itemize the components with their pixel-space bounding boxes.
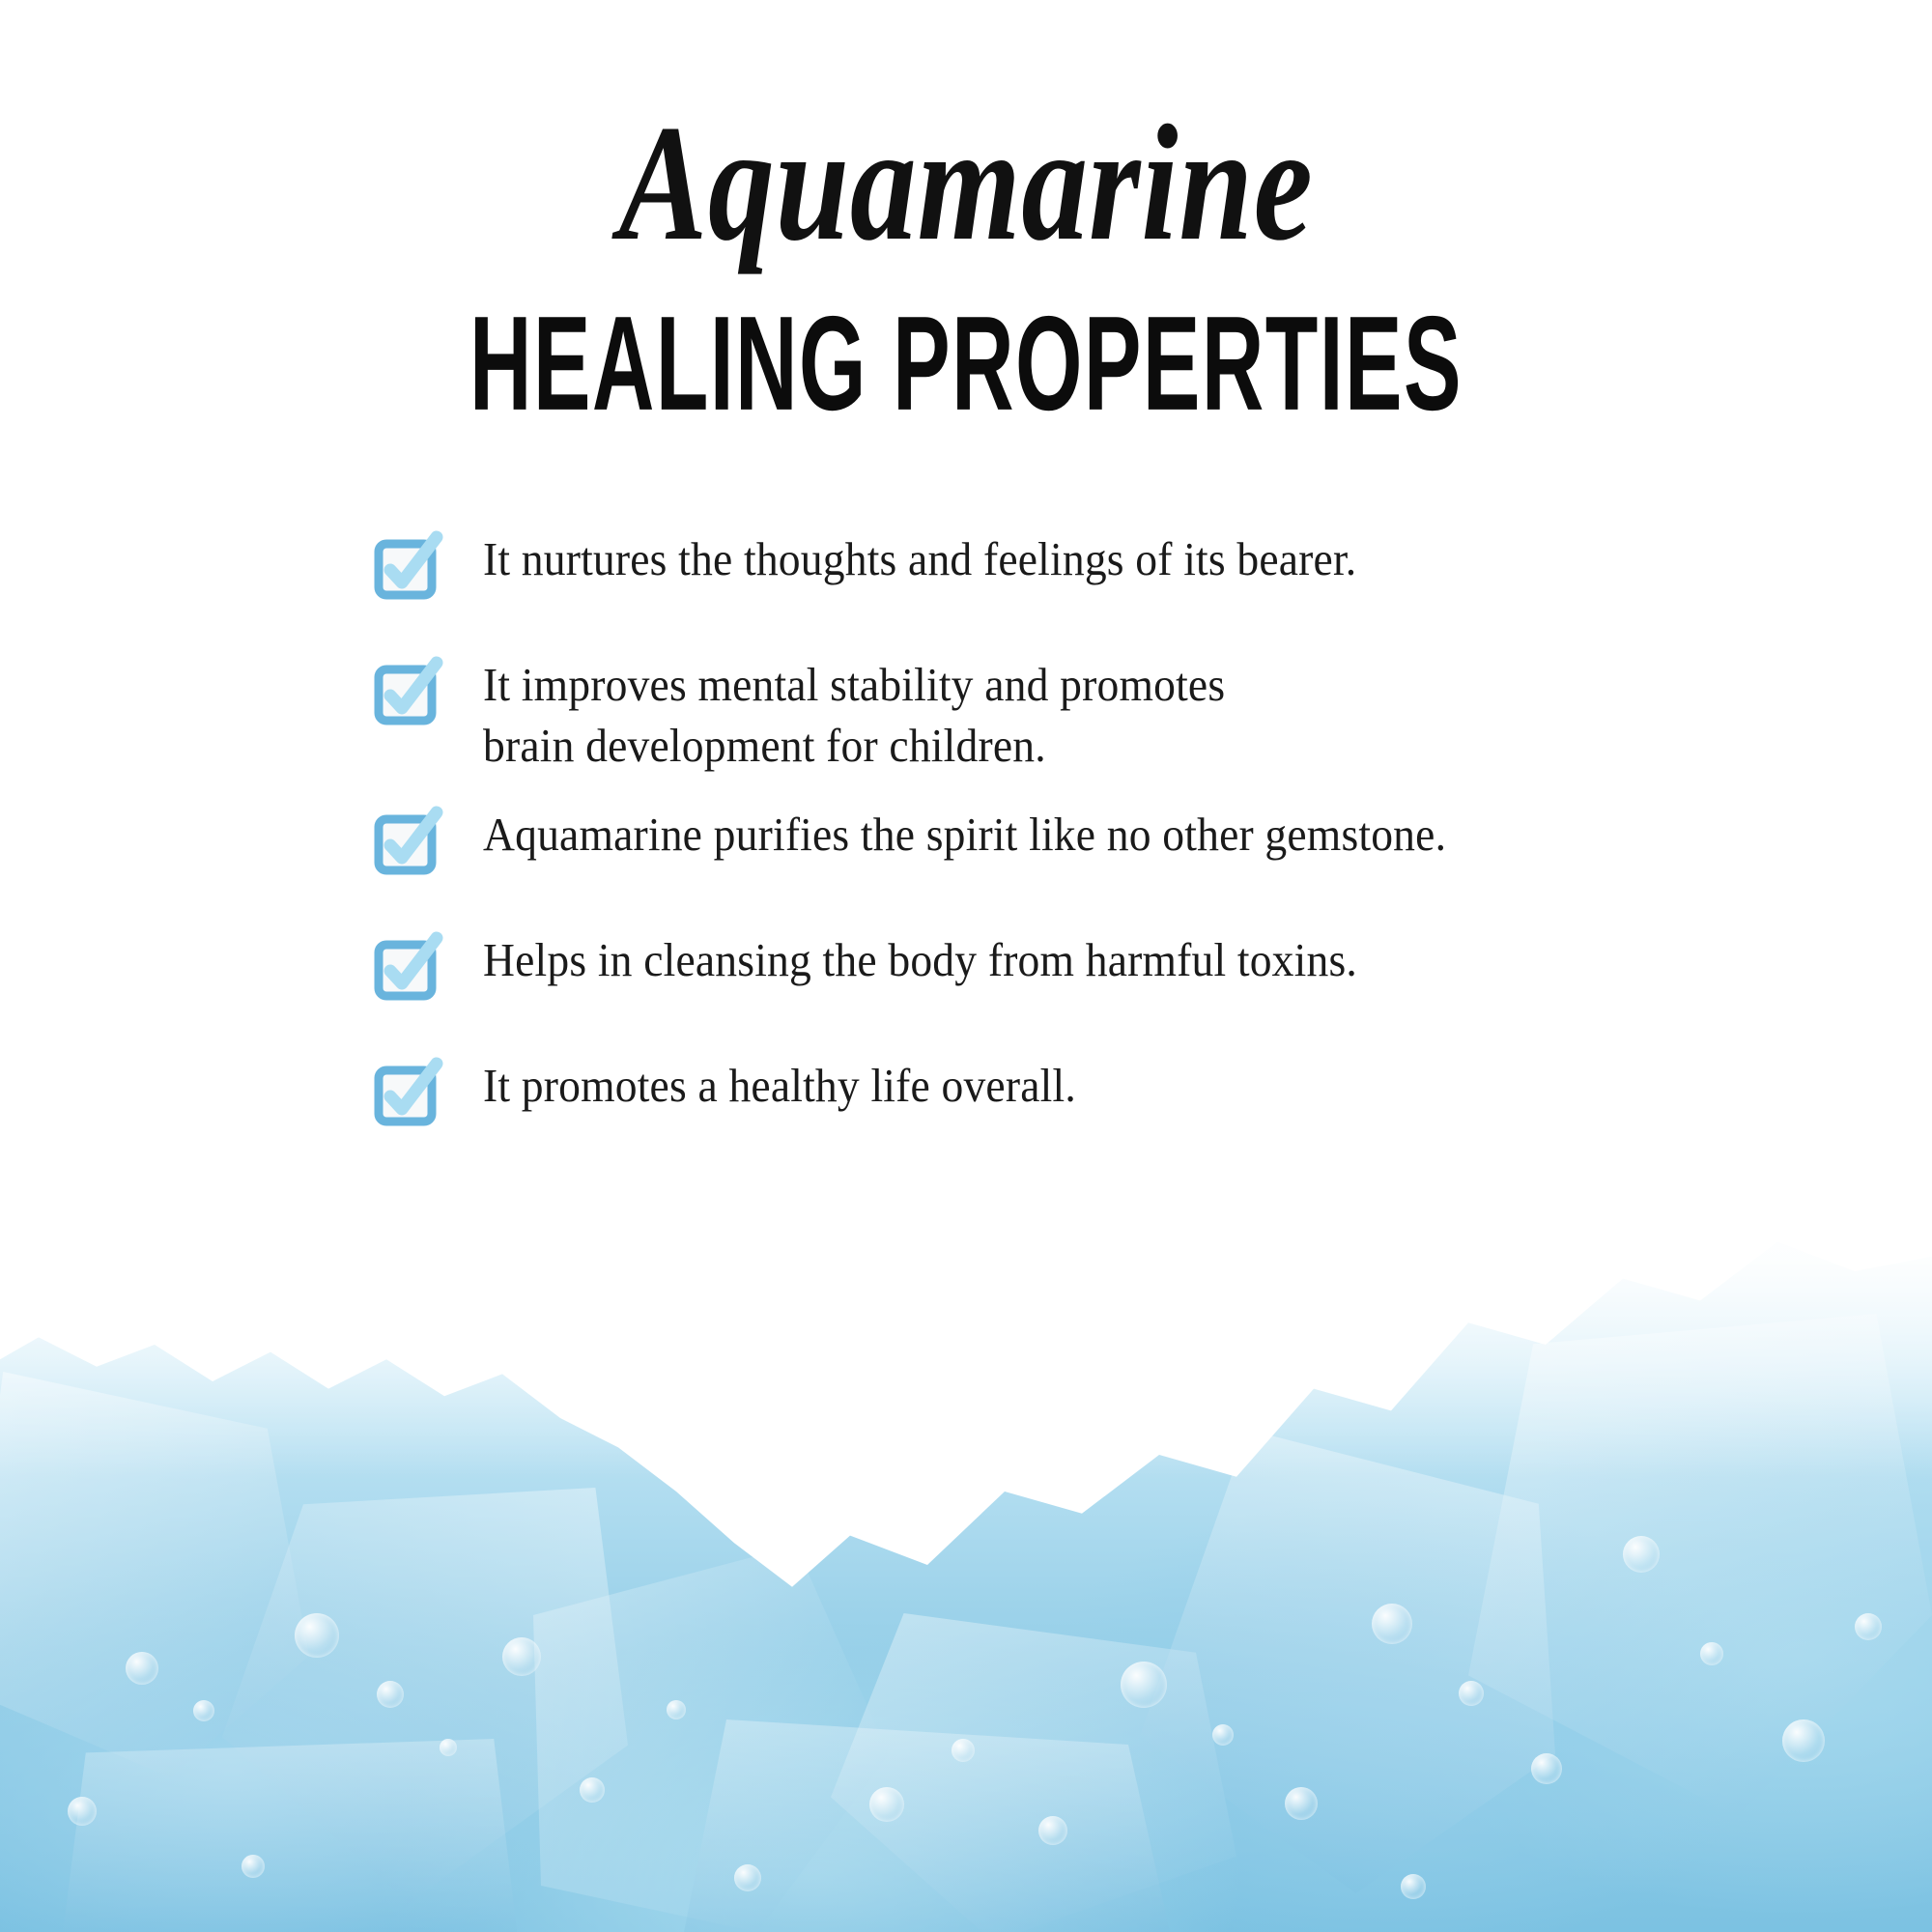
list-item-label: Helps in cleansing the body from harmful…	[483, 930, 1357, 991]
healing-properties-list: It nurtures the thoughts and feelings of…	[375, 529, 1882, 1127]
ice-bubble	[1531, 1753, 1562, 1784]
ice-bubble	[295, 1613, 339, 1658]
ice-bubble	[126, 1652, 158, 1685]
ice-bubble	[193, 1700, 214, 1721]
checkbox-checked-icon	[375, 661, 440, 726]
ice-bubble	[1212, 1724, 1234, 1746]
ice-bubble	[440, 1739, 457, 1756]
list-item: Aquamarine purifies the spirit like no o…	[375, 805, 1882, 876]
checkbox-checked-icon	[375, 810, 440, 876]
ice-bubble	[377, 1681, 404, 1708]
aquamarine-healing-properties-poster: Aquamarine HEALING PROPERTIES It nurture…	[0, 0, 1932, 1932]
list-item-label: It improves mental stability and promote…	[483, 655, 1225, 776]
ice-bubble	[1285, 1787, 1318, 1820]
ice-bubble	[1623, 1536, 1660, 1573]
ice-bubble	[1855, 1613, 1882, 1640]
ice-top-fade	[0, 1198, 1932, 1478]
list-item: It improves mental stability and promote…	[375, 655, 1882, 776]
list-item: Helps in cleansing the body from harmful…	[375, 930, 1882, 1002]
ice-bubble	[1459, 1681, 1484, 1706]
list-item-label: It promotes a healthy life overall.	[483, 1056, 1076, 1117]
checkbox-checked-icon	[375, 1062, 440, 1127]
page-subtitle: HEALING PROPERTIES	[270, 267, 1662, 431]
list-item: It nurtures the thoughts and feelings of…	[375, 529, 1882, 601]
list-item: It promotes a healthy life overall.	[375, 1056, 1882, 1127]
page-title: Aquamarine	[193, 0, 1739, 267]
ice-bubble	[952, 1739, 975, 1762]
ice-bubble	[667, 1700, 686, 1719]
ice-bubble	[68, 1797, 97, 1826]
ice-bubble	[1038, 1816, 1067, 1845]
ice-bubble	[1401, 1874, 1426, 1899]
ice-bubble	[1372, 1604, 1412, 1644]
ice-bubble	[1121, 1662, 1167, 1708]
ice-facet	[676, 1719, 1179, 1932]
ice-facet	[58, 1739, 522, 1932]
ice-bubble	[1782, 1719, 1825, 1762]
ice-cubes-photo	[0, 1198, 1932, 1932]
checkbox-checked-icon	[375, 936, 440, 1002]
ice-bubble	[580, 1777, 605, 1803]
ice-bubble	[241, 1855, 265, 1878]
poster-header: Aquamarine HEALING PROPERTIES	[0, 0, 1932, 413]
list-item-label: It nurtures the thoughts and feelings of…	[483, 529, 1356, 590]
checkbox-checked-icon	[375, 535, 440, 601]
ice-bubble	[502, 1637, 541, 1676]
list-item-label: Aquamarine purifies the spirit like no o…	[483, 805, 1446, 866]
ice-bubble	[869, 1787, 904, 1822]
ice-bubble	[734, 1864, 761, 1891]
ice-bubble	[1700, 1642, 1723, 1665]
